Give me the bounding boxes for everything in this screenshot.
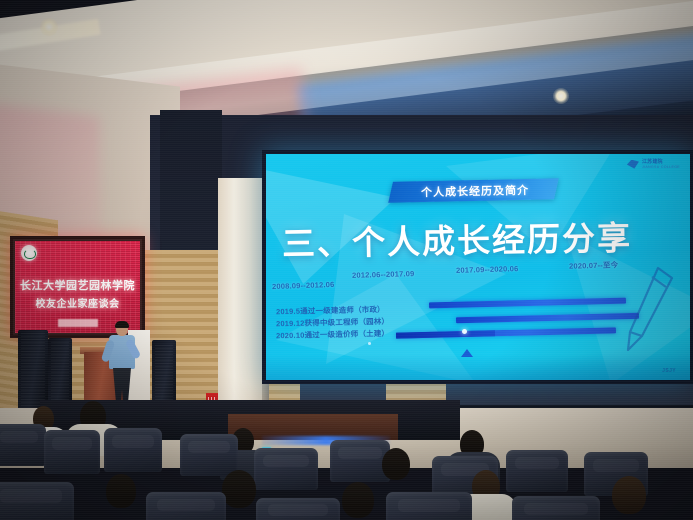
seat: [180, 434, 238, 476]
attendee-head: [612, 476, 646, 514]
timeline-dot-marker: [462, 329, 467, 334]
seat: [512, 496, 600, 520]
attendee-head: [106, 474, 136, 508]
seat: [386, 492, 472, 520]
slide-title: 三、个人成长经历分享: [282, 211, 675, 266]
presenter-hair: [115, 321, 129, 328]
downlight-icon: [40, 18, 58, 36]
slide-logo: 江苏建院 JIANGSU COLLEGE: [627, 159, 680, 169]
seat: [0, 424, 46, 466]
slide-surface: 江苏建院 JIANGSU COLLEGE 个人成长经历及简介 三、个人成长经历分…: [266, 154, 690, 380]
seat: [104, 428, 162, 472]
pencil-icon: [622, 264, 676, 356]
presenter: [104, 322, 138, 412]
seat: [0, 482, 74, 520]
timeline-label: 2012.06--2017.09: [352, 269, 415, 280]
side-led-surface: 长江大学园艺园林学院 校友企业家座谈会: [15, 241, 140, 333]
projection-screen[interactable]: 江苏建院 JIANGSU COLLEGE 个人成长经历及简介 三、个人成长经历分…: [262, 150, 693, 384]
attendee-head: [222, 470, 256, 508]
seat: [254, 448, 318, 490]
side-led-line2: 校友企业家座谈会: [15, 295, 140, 310]
timeline-label: 2008.09--2012.06: [272, 280, 335, 291]
attendee-head: [382, 448, 410, 480]
timeline-dot-marker-small: [368, 342, 371, 345]
side-led-highlight-strip: [58, 319, 98, 327]
seat: [44, 430, 100, 474]
side-led-line1: 长江大学园艺园林学院: [15, 277, 140, 293]
slide-logo-text-group: 江苏建院 JIANGSU COLLEGE: [642, 159, 680, 169]
auditorium-scene: 长江大学园艺园林学院 校友企业家座谈会 江苏建院 JIANGSU COLLEGE…: [0, 0, 693, 520]
slide-bottom-shade: [266, 354, 690, 380]
attendee-head: [342, 482, 374, 518]
timeline-label: 2020.07--至今: [569, 259, 619, 271]
seat: [256, 498, 340, 520]
slide-banner-label: 个人成长经历及简介: [394, 180, 556, 201]
slide-logo-mark-icon: [627, 160, 639, 169]
seat: [330, 440, 390, 482]
speaker-grill: [51, 341, 69, 409]
timeline-label: 2017.09--2020.06: [456, 264, 519, 275]
support-pillar: [218, 178, 264, 423]
speaker-grill: [21, 333, 45, 409]
seat: [506, 450, 568, 492]
timeline-bar-segment: [396, 330, 495, 338]
seat: [146, 492, 226, 520]
downlight-icon: [553, 88, 569, 104]
slide-logo-subtitle: JIANGSU COLLEGE: [642, 165, 680, 169]
university-logo-icon: [21, 245, 37, 261]
